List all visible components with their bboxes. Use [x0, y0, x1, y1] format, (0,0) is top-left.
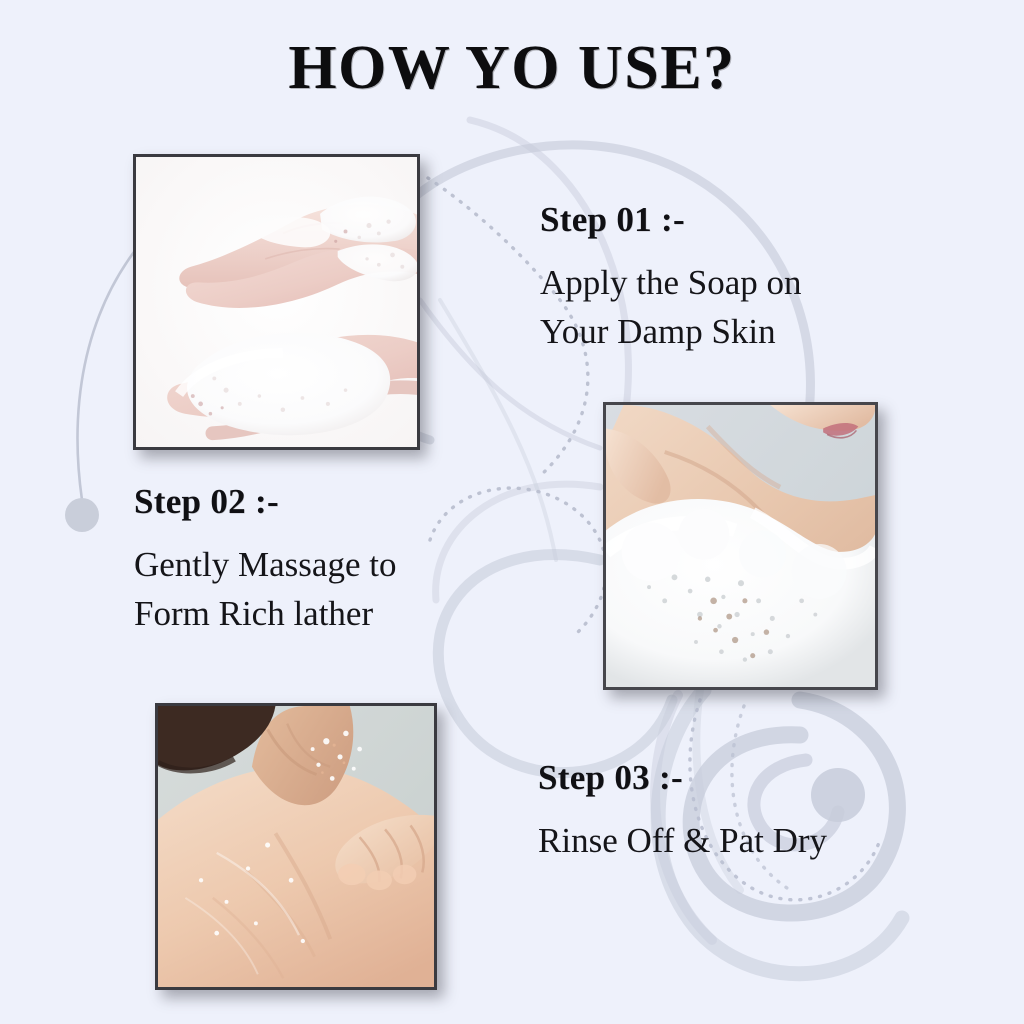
how-to-use-infographic: HOW YO USE?	[0, 0, 1024, 1024]
step-3-description: Rinse Off & Pat Dry	[538, 816, 827, 865]
step-2-description: Gently Massage to Form Rich lather	[134, 540, 396, 638]
step-3-label: Step 03 :-	[538, 758, 827, 798]
step-1-description-line-1: Apply the Soap on	[540, 258, 802, 307]
step-2-description-line-2: Form Rich lather	[134, 589, 396, 638]
step-3-text-block: Step 03 :- Rinse Off & Pat Dry	[538, 758, 827, 865]
step-2-text-block: Step 02 :- Gently Massage to Form Rich l…	[134, 482, 396, 638]
step-1-text-block: Step 01 :- Apply the Soap on Your Damp S…	[540, 200, 802, 356]
rinsing-neck-shower-photo	[155, 703, 437, 990]
step-3-description-line-1: Rinse Off & Pat Dry	[538, 816, 827, 865]
step-1-description-line-2: Your Damp Skin	[540, 307, 802, 356]
step-2-label: Step 02 :-	[134, 482, 396, 522]
step-2-description-line-1: Gently Massage to	[134, 540, 396, 589]
shoulder-foam-massage-photo	[603, 402, 878, 690]
hands-lathering-soap-photo	[133, 154, 420, 450]
step-1-label: Step 01 :-	[540, 200, 802, 240]
step-1-description: Apply the Soap on Your Damp Skin	[540, 258, 802, 356]
page-title: HOW YO USE?	[0, 33, 1024, 104]
